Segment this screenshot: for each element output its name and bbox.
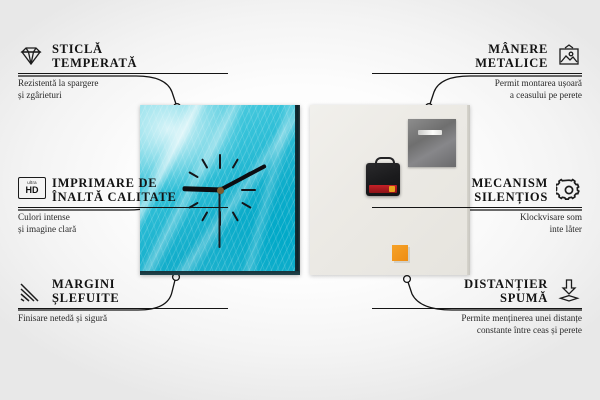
feature-subtitle-line1: Rezistentă la spargere [18, 77, 228, 89]
feature-subtitle-line1: Finisare netedă și sigură [18, 312, 228, 324]
arrow-down-layers-icon [556, 278, 582, 304]
infographic-canvas: STICLĂ TEMPERATĂ Rezistentă la spargere … [0, 0, 600, 400]
feature-title-line1: DISTANȚIER [464, 277, 548, 291]
hanging-frame-icon [556, 43, 582, 69]
diamond-icon [18, 43, 44, 69]
mechanism-hanger-loop [375, 157, 395, 168]
feature-subtitle-line2: constante între ceas și perete [372, 324, 582, 336]
feature-subtitle-line2: și imagine clară [18, 223, 228, 235]
feature-subtitle-line1: Permite menținerea unei distanțe [372, 312, 582, 324]
feature-subtitle-line1: Culori intense [18, 211, 228, 223]
gear-icon [556, 177, 582, 203]
feature-title-line2: METALICE [475, 56, 548, 70]
foam-spacer-pad [392, 245, 408, 261]
panel-bottom-edge [140, 271, 300, 275]
feature-title-line2: TEMPERATĂ [52, 56, 137, 70]
diagonal-lines-icon [18, 278, 44, 304]
feature-subtitle-line1: Klockvisare som [372, 211, 582, 223]
feature-subtitle-line2: a ceasului pe perete [372, 89, 582, 101]
feature-polished-edges: MARGINI ȘLEFUITE Finisare netedă și sigu… [18, 277, 228, 324]
feature-foam-spacer: DISTANȚIER SPUMĂ Permite menținerea unei… [372, 277, 582, 336]
feature-title-line1: STICLĂ [52, 42, 137, 56]
feature-metal-handles: MÂNERE METALICE Permit montarea ușoară a… [372, 42, 582, 101]
feature-title-line2: SPUMĂ [464, 291, 548, 305]
feature-title-line2: ȘLEFUITE [52, 291, 119, 305]
feature-title-line2: ÎNALTĂ CALITATE [52, 190, 177, 204]
feature-subtitle-line2: și zgârieturi [18, 89, 228, 101]
feature-tempered-glass: STICLĂ TEMPERATĂ Rezistentă la spargere … [18, 42, 228, 101]
feature-title-line2: SILENȚIOS [472, 190, 548, 204]
feature-title-line1: MECANISM [472, 176, 548, 190]
badge-hd-label: HD [26, 186, 39, 195]
feature-subtitle-line1: Permit montarea ușoară [372, 77, 582, 89]
hanger-slot [418, 130, 442, 135]
feature-subtitle-line2: inte låter [372, 223, 582, 235]
feature-silent-mechanism: MECANISM SILENȚIOS Klockvisare som inte … [372, 176, 582, 235]
feature-print-quality: ultra HD IMPRIMARE DE ÎNALTĂ CALITATE Cu… [18, 176, 228, 235]
feature-title-line1: MÂNERE [475, 42, 548, 56]
panel-right-edge [295, 105, 300, 275]
ultra-hd-badge-icon: ultra HD [18, 177, 44, 203]
feature-title-line1: IMPRIMARE DE [52, 176, 177, 190]
metal-hanger-plate [408, 119, 456, 167]
feature-title-line1: MARGINI [52, 277, 119, 291]
